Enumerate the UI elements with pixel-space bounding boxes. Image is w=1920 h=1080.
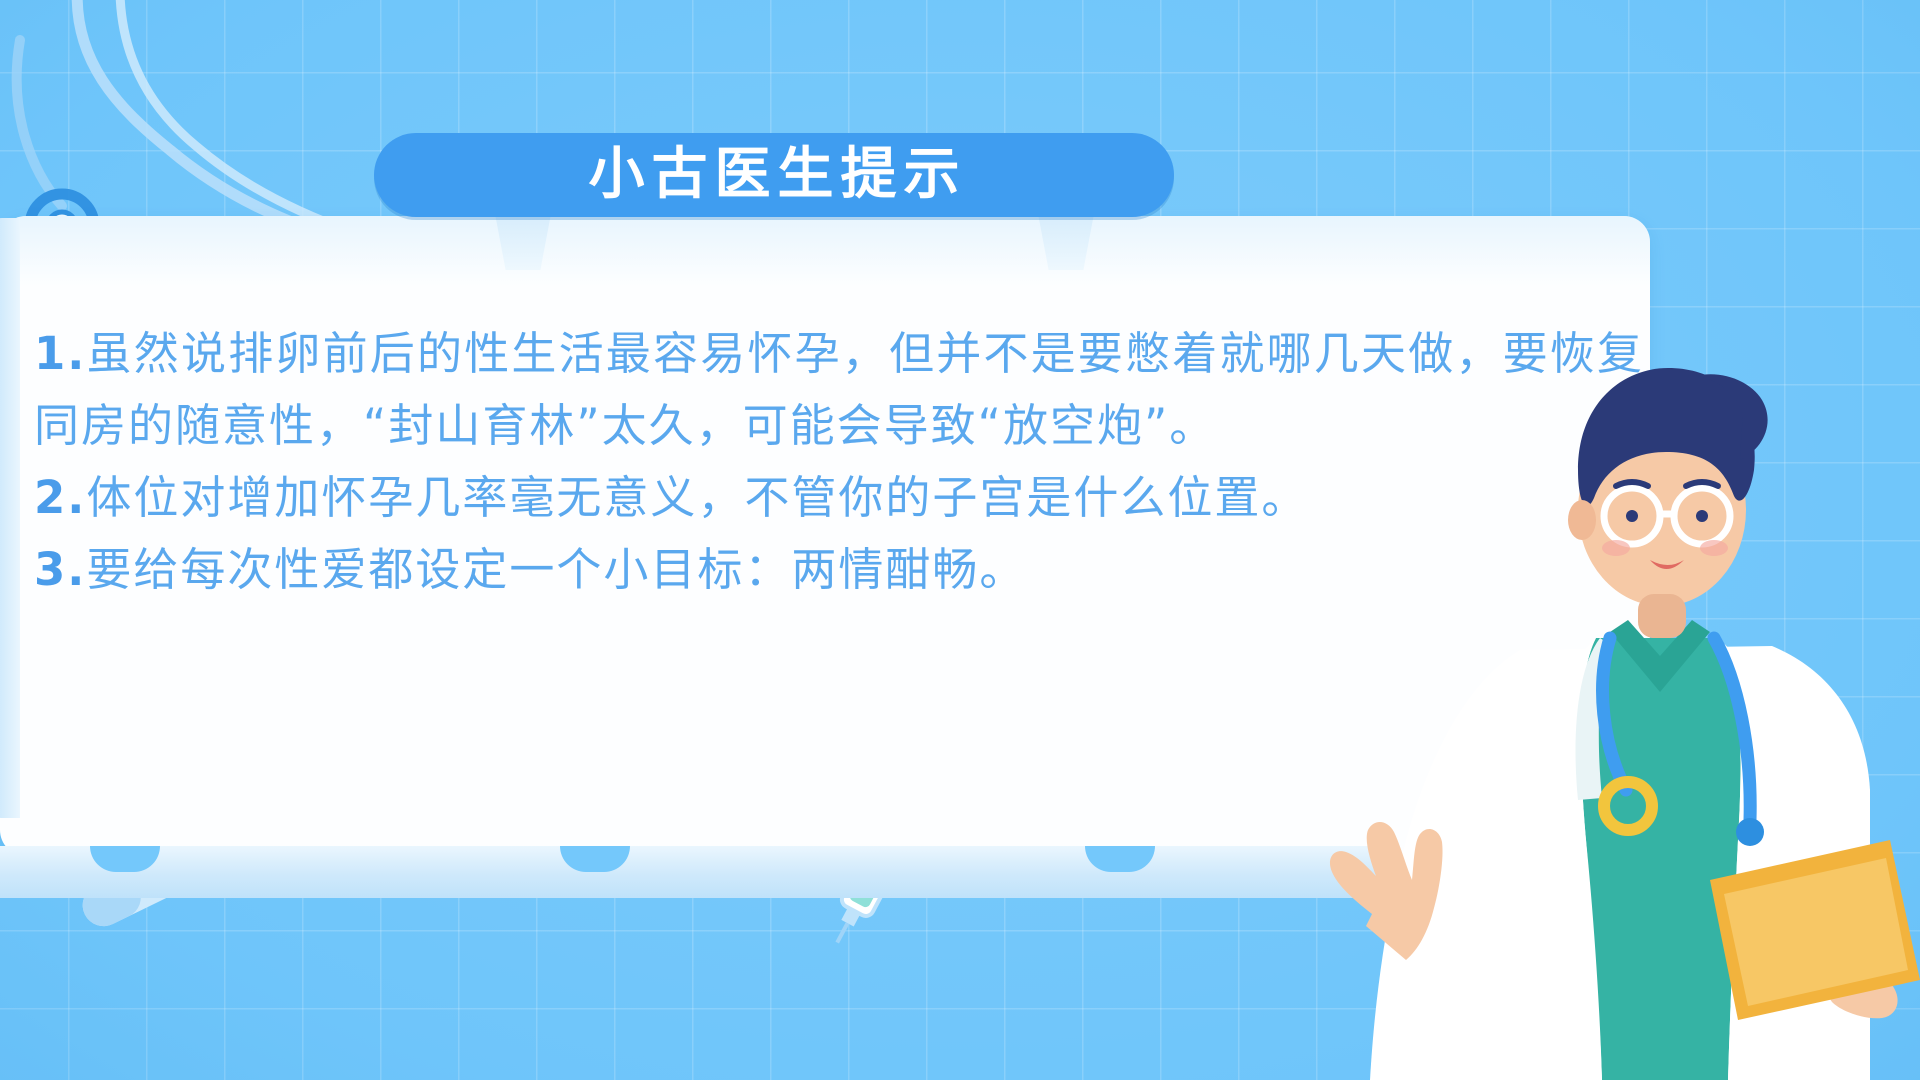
tips-list: 1.虽然说排卵前后的性生活最容易怀孕，但并不是要憋着就哪几天做，要恢复同房的随意… xyxy=(34,318,1644,606)
tip-number: 3. xyxy=(34,543,86,596)
list-item: 1.虽然说排卵前后的性生活最容易怀孕，但并不是要憋着就哪几天做，要恢复同房的随意… xyxy=(34,318,1644,462)
list-item: 2.体位对增加怀孕几率毫无意义，不管你的子宫是什么位置。 xyxy=(34,462,1644,534)
title-ribbon: 小古医生提示 xyxy=(374,133,1174,217)
list-item: 3.要给每次性爱都设定一个小目标：两情酣畅。 xyxy=(34,534,1644,606)
page-title: 小古医生提示 xyxy=(582,147,967,203)
tip-text: 体位对增加怀孕几率毫无意义，不管你的子宫是什么位置。 xyxy=(86,471,1308,524)
tip-number: 2. xyxy=(34,471,86,524)
poster-canvas: 小古医生提示 1.虽然说排卵前后的性生活最容易怀孕，但并不是要憋着就哪几天做，要… xyxy=(0,0,1920,1080)
tip-text: 虽然说排卵前后的性生活最容易怀孕，但并不是要憋着就哪几天做，要恢复同房的随意性，… xyxy=(34,327,1644,452)
scroll-bottom-roll xyxy=(0,846,1386,898)
tip-text: 要给每次性爱都设定一个小目标：两情酣畅。 xyxy=(86,543,1026,596)
tip-number: 1. xyxy=(34,327,86,380)
scroll-left-edge xyxy=(0,218,20,818)
